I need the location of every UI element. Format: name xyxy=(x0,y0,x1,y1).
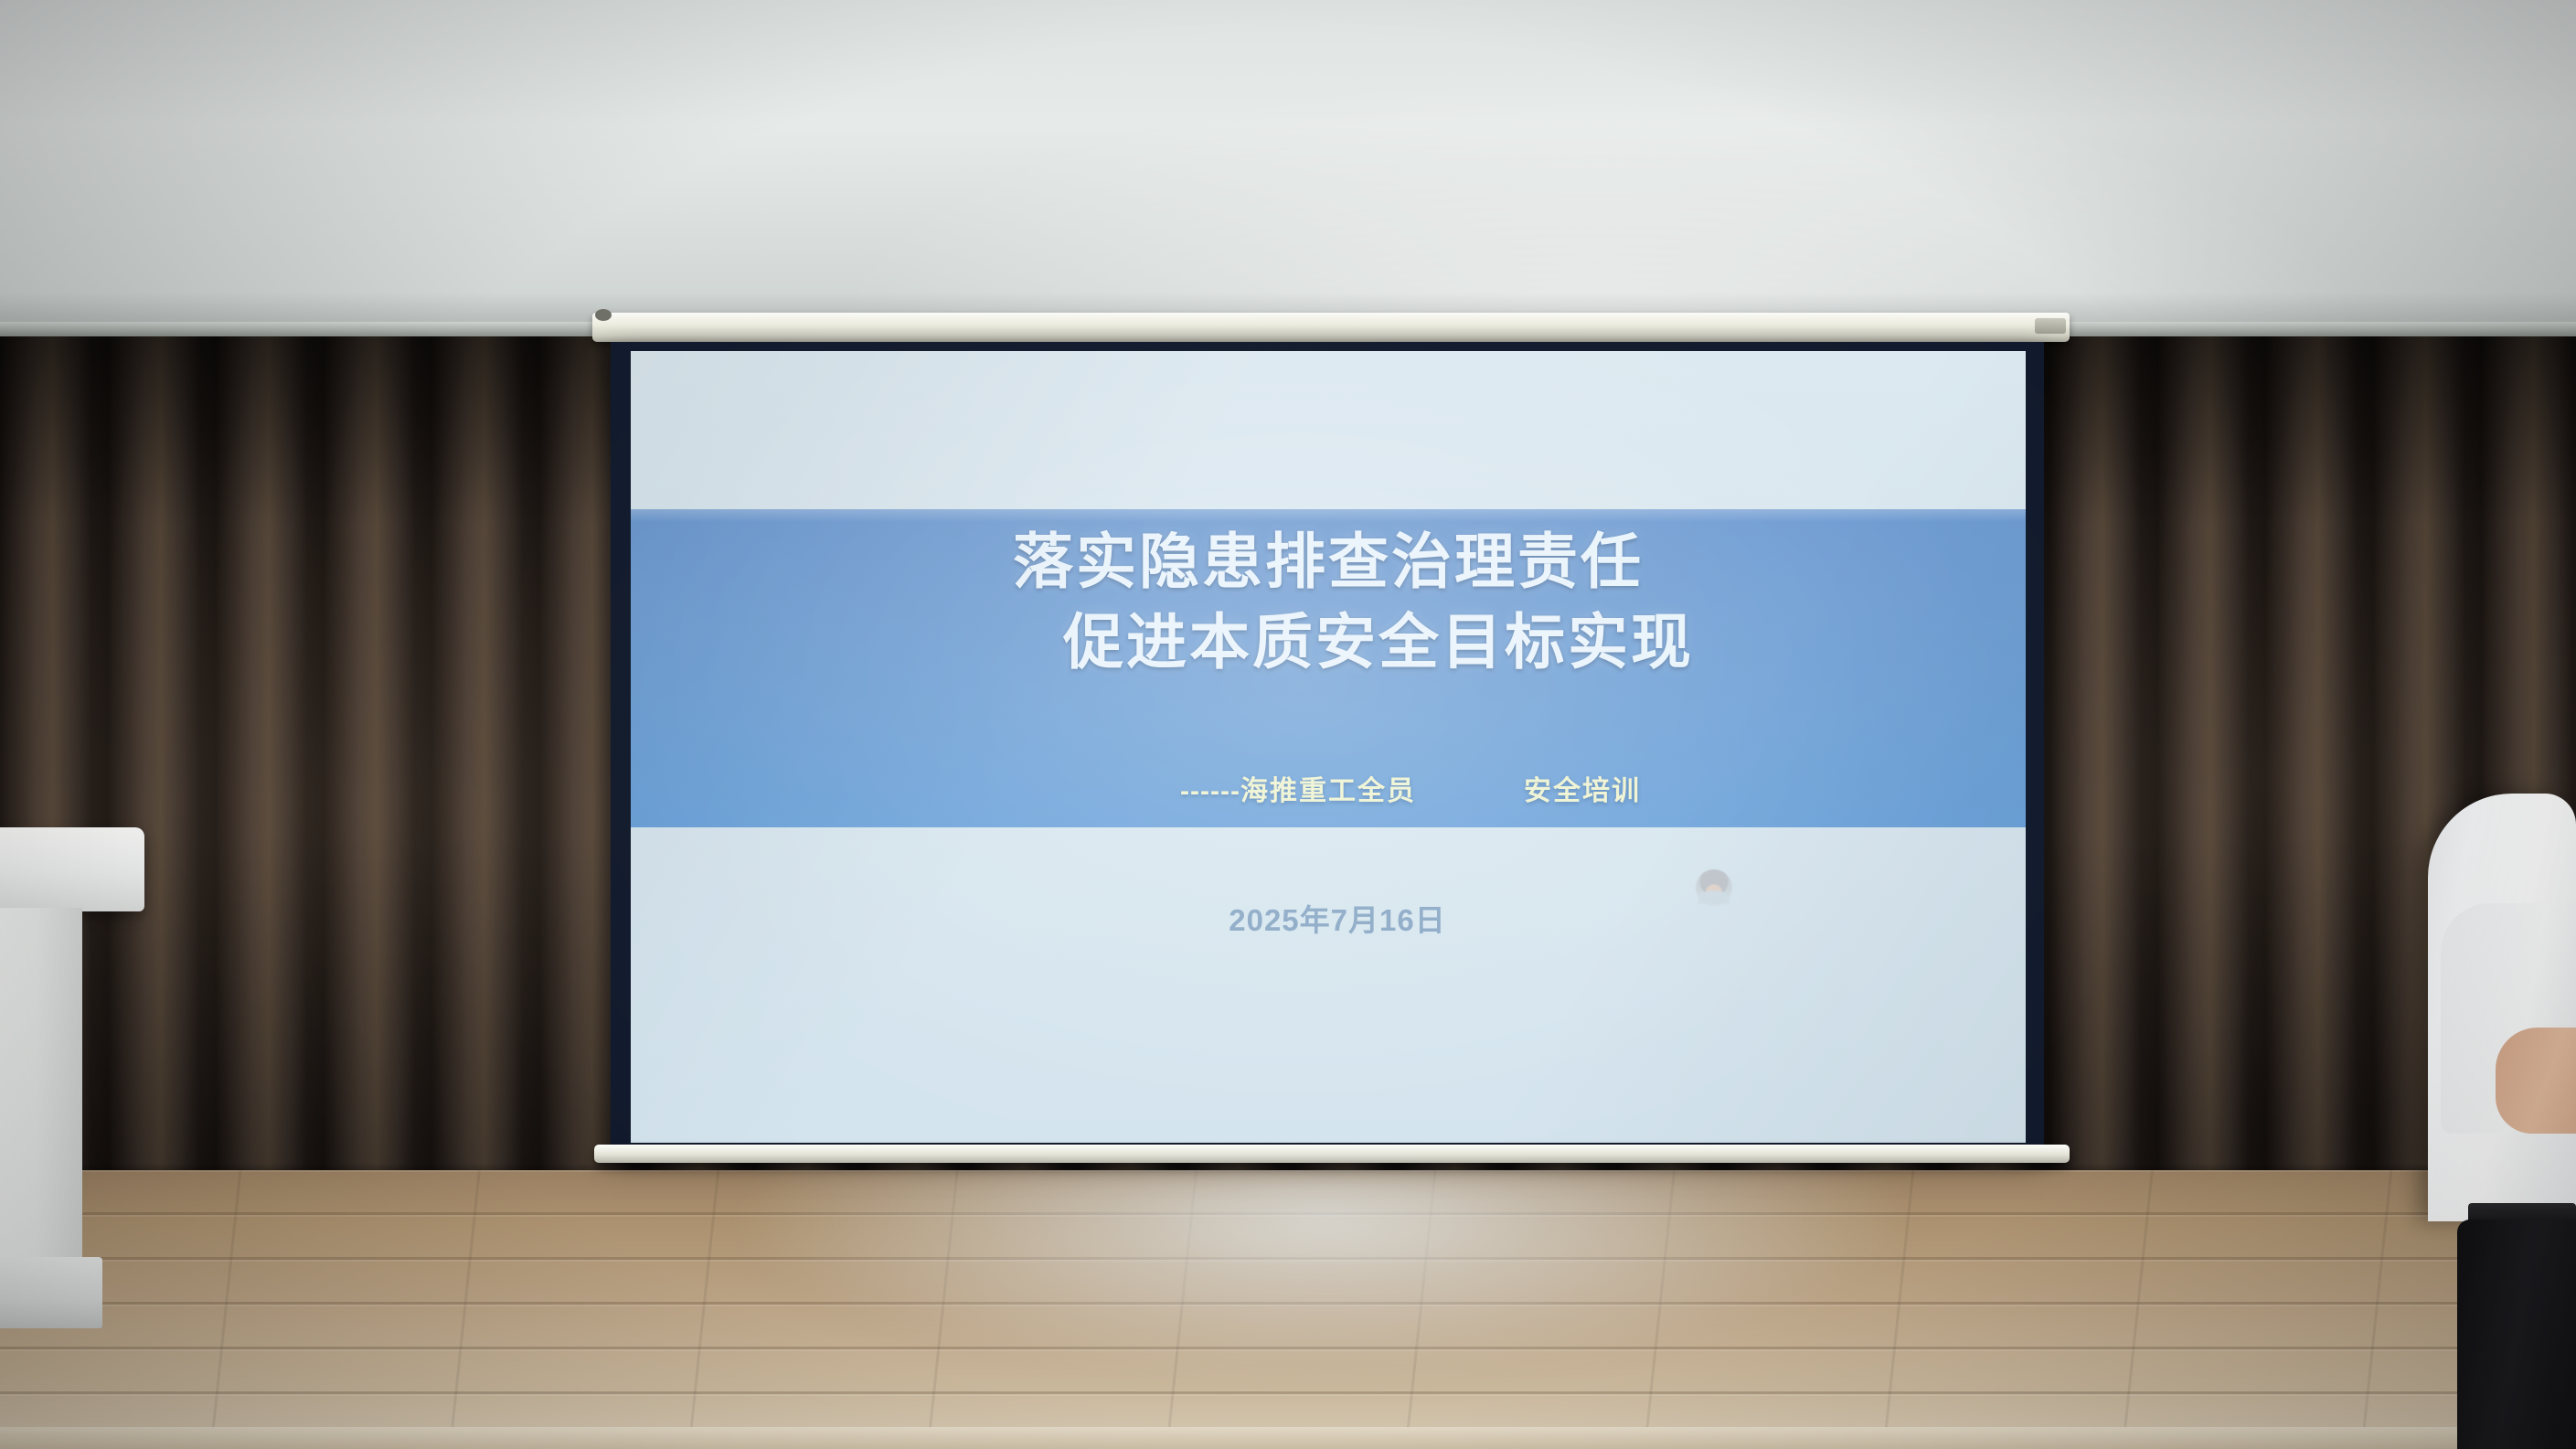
screen-roller-knob xyxy=(595,309,612,321)
slide-subtitle-dashes: ------ xyxy=(1180,776,1240,806)
conference-room-photo: 落实隐患排查治理责任 促进本质安全目标实现 ------海推重工全员 安全培训 … xyxy=(0,0,2576,1449)
ceiling xyxy=(0,0,2576,357)
lectern xyxy=(0,827,144,1344)
lectern-column xyxy=(0,908,82,1266)
projection-screen-bottom-bar xyxy=(594,1145,2070,1163)
slide-date: 2025年7月16日 xyxy=(631,896,2026,940)
slide-title-block: 落实隐患排查治理责任 促进本质安全目标实现 xyxy=(631,521,2026,683)
projector-light-spill xyxy=(512,1170,2139,1449)
lectern-base xyxy=(0,1257,102,1328)
person-forearm xyxy=(2496,1028,2576,1134)
slide-subtitle-left: 海推重工全员 xyxy=(1240,776,1416,806)
presenter-avatar xyxy=(1696,869,1732,906)
lectern-top xyxy=(0,827,144,911)
projector-screen-housing xyxy=(592,313,2070,342)
floor-front-edge xyxy=(0,1427,2576,1449)
slide-title-line-2: 促进本质安全目标实现 xyxy=(631,602,2026,682)
slide-subtitle-right: 安全培训 xyxy=(1524,768,1641,808)
floor xyxy=(0,1170,2576,1449)
avatar-shoulders xyxy=(1698,890,1730,904)
person-trousers xyxy=(2457,1220,2576,1449)
screen-roller-end-cap xyxy=(2035,318,2066,334)
presentation-slide: 落实隐患排查治理责任 促进本质安全目标实现 ------海推重工全员 安全培训 … xyxy=(631,351,2026,1143)
slide-subtitle-left-group: ------海推重工全员 xyxy=(1180,768,1416,808)
slide-subtitle-row: ------海推重工全员 安全培训 xyxy=(631,768,2026,808)
projection-screen-surface: 落实隐患排查治理责任 促进本质安全目标实现 ------海推重工全员 安全培训 … xyxy=(631,351,2026,1143)
standing-person xyxy=(2428,794,2576,1449)
slide-title-line-1: 落实隐患排查治理责任 xyxy=(631,521,2026,602)
